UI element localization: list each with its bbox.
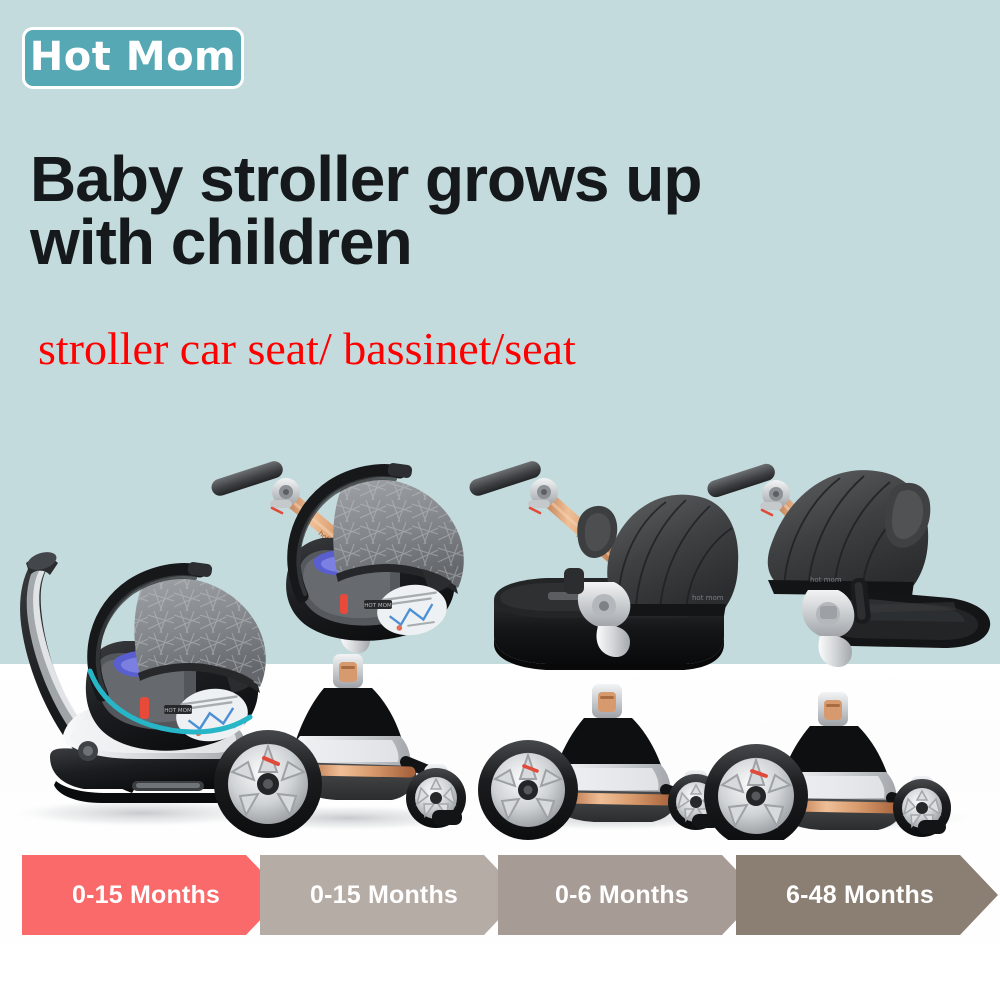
age-chevron-2[interactable]: 0-6 Months	[498, 855, 760, 935]
svg-text:HOT MOM: HOT MOM	[364, 603, 392, 609]
poster-canvas: Hot Mom Baby stroller grows up with chil…	[0, 0, 1000, 1000]
age-chevron-0-label: 0-15 Months	[72, 881, 220, 910]
brand-logo-text: Hot Mom	[30, 37, 236, 77]
product-stroller-with-car-seat[interactable]: hot mom	[196, 440, 496, 840]
brand-logo-badge: Hot Mom	[22, 27, 244, 89]
page-title: Baby stroller grows up with children	[30, 148, 910, 273]
age-chevron-3[interactable]: 6-48 Months	[736, 855, 998, 935]
age-range-banner: 0-15 Months 0-15 Months 0-6 Months 6-48 …	[22, 855, 984, 935]
age-chevron-2-label: 0-6 Months	[555, 881, 689, 910]
age-chevron-3-label: 6-48 Months	[786, 881, 934, 910]
age-chevron-1-label: 0-15 Months	[310, 881, 458, 910]
svg-text:HOT MOM: HOT MOM	[164, 708, 192, 714]
age-chevron-0[interactable]: 0-15 Months	[22, 855, 284, 935]
product-showcase: HOT MOM hot mom	[0, 415, 1000, 835]
page-subtitle: stroller car seat/ bassinet/seat	[38, 326, 958, 372]
age-chevron-1[interactable]: 0-15 Months	[260, 855, 522, 935]
product-stroller-with-toddler-seat[interactable]: hot mom hot mom	[700, 430, 1000, 840]
svg-text:hot mom: hot mom	[810, 576, 842, 584]
